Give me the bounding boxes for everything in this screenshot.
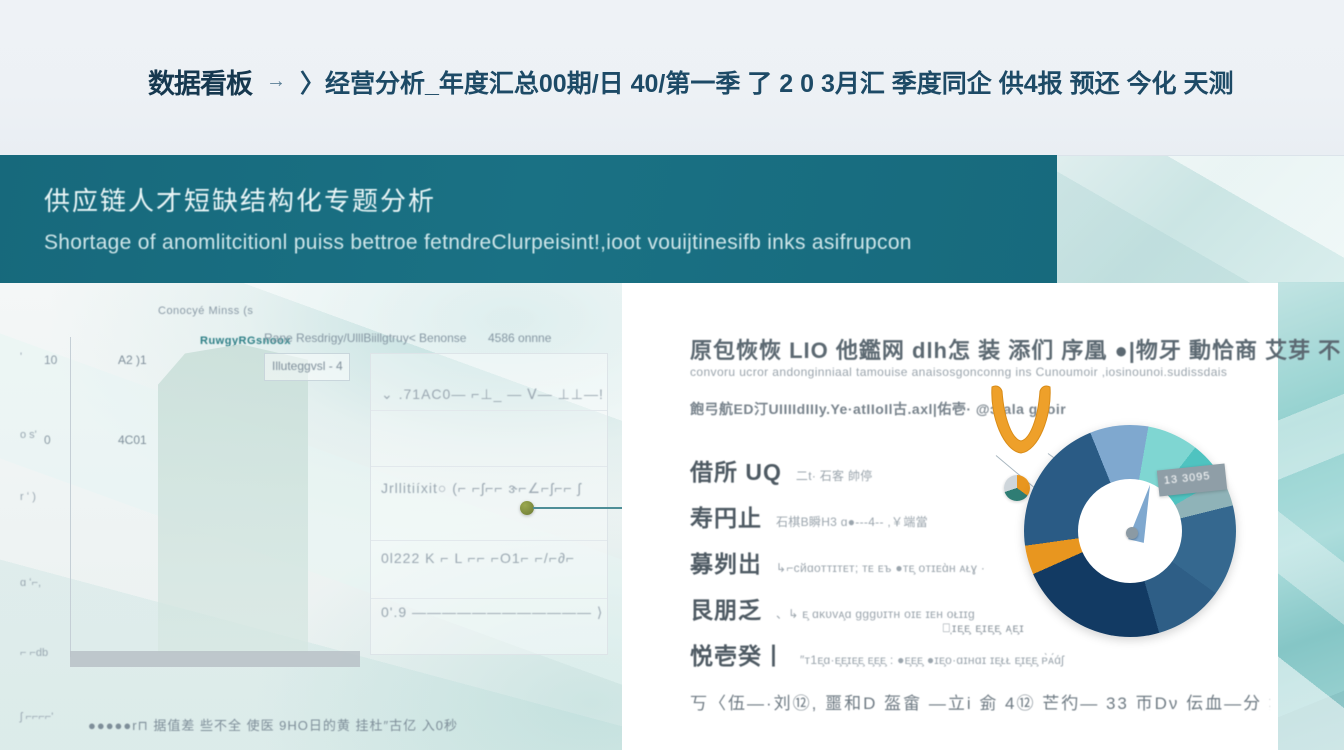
- chart-area-series: [158, 341, 308, 653]
- table-divider: [371, 540, 607, 541]
- edge-tick: o s': [20, 429, 37, 441]
- edge-tick: ': [20, 351, 22, 363]
- list-item-description: 石棋B瞬H3 ɑ●---4-- ,￥端當: [776, 513, 928, 530]
- table-row: ⌄ .71AC0— ⌐⊥_ — Ⅴ— ⊥⊥—!: [381, 386, 604, 403]
- breadcrumb[interactable]: 数据看板 → 〉经营分析_年度汇总00期/日 40/第一季 了 2 0 3月汇 …: [148, 62, 1234, 101]
- right-panel-subtitle: convoru ucror andonginniaal tamouise ana…: [690, 365, 1260, 379]
- table-filter-chip[interactable]: Illuteggvsl - 4: [264, 353, 350, 381]
- slide-header: 数据看板 → 〉经营分析_年度汇总00期/日 40/第一季 了 2 0 3月汇 …: [0, 0, 1344, 156]
- list-item-label: 艮朋乏: [690, 591, 762, 625]
- table-column-header-1: Rane Resdrigy/UlllBiillgtruy< Benonse: [264, 331, 466, 345]
- chart-title: Conocyé Minss (s: [158, 305, 253, 317]
- series-label-0: A2 )1: [118, 353, 147, 367]
- section-banner: 供应链人才短缺结构化专题分析 Shortage of anomlitcition…: [0, 155, 1057, 283]
- right-panel-title: 原包恢恢 LIO 他鑑网 dlh怎 装 添们 序凰 ●|物牙 動恰商 艾芽 不 …: [690, 333, 1250, 365]
- chart-y-axis: [70, 337, 71, 657]
- mini-pie-icon: [1004, 475, 1030, 501]
- table-row: 0'.9 ———————————— ⟩: [381, 604, 603, 621]
- table-row: Jrllitiíxit○ (⌐ ⌐ʃ⌐⌐ ɝ⌐∠⌐ʃ⌐⌐ ʃ: [381, 480, 582, 497]
- edge-tick: r ʻ ): [20, 491, 36, 503]
- list-item-label: 募刿岀: [690, 545, 762, 579]
- series-label-1: 4C01: [118, 433, 147, 447]
- y-tick-1: 0: [44, 433, 51, 447]
- list-item-description: 二t· 石客 帥停: [796, 467, 873, 484]
- data-point-marker-icon: [520, 501, 534, 515]
- table-divider: [371, 466, 607, 467]
- edge-tick: ɑ ʻ⌐,: [20, 577, 41, 589]
- table-column-header-2: 4586 onnne: [488, 331, 551, 345]
- list-item-label: 寿円止: [690, 499, 762, 533]
- table-divider: [371, 598, 607, 599]
- list-item-label: 借所 UQ: [690, 453, 782, 487]
- table-filter-chip-label: Illuteggvsl - 4: [272, 359, 343, 373]
- donut-center-hub: [1126, 527, 1138, 539]
- edge-tick: ʃ ⌐⌐⌐⌐': [20, 711, 53, 723]
- background-texture-top-right: [1057, 155, 1344, 283]
- banner-subtitle: Shortage of anomlitcitionl puiss bettroe…: [44, 231, 1024, 255]
- list-item-label: 悦壱癸丨: [690, 637, 786, 671]
- list-item-description: 、↳ ᴇ̧ ɑᴋᴜᴠᴀ̧ɑ ɡɡɡᴜɪᴛʜ ᴏɪᴇ ɪᴇʜ ᴏᴌɪɪɡ: [776, 605, 975, 622]
- table-divider: [371, 410, 607, 411]
- right-content-card: 原包恢恢 LIO 他鑑网 dlh怎 装 添们 序凰 ●|物牙 動恰商 艾芽 不 …: [622, 283, 1278, 750]
- breadcrumb-arrow-icon: →: [266, 70, 286, 93]
- breadcrumb-root[interactable]: 数据看板: [148, 62, 252, 101]
- chart-footnote: ●●●●●r⊓ 据值差 些不全 使医 9HO日的黄 挂杜″古亿 入0秒: [88, 715, 458, 734]
- donut-note: 匹̩ɪᴇ̧ᴇ̧ ᴇ̧ɪᴇ̧ᴇ̧ ᴀ̩ᴇ̧ɪ: [942, 621, 1025, 635]
- y-tick-0: 10: [44, 353, 57, 367]
- area-chart: Conocyé Minss (s RuwgyRGsnoox 10 0 A2 )1…: [18, 291, 614, 691]
- chart-x-axis-band: [70, 651, 360, 667]
- donut-chart: 13 3095 匹̩ɪᴇ̧ᴇ̧ ᴇ̧ɪᴇ̧ᴇ̧ ᴀ̩ᴇ̧ɪ: [952, 383, 1252, 673]
- right-panel-footer: 丂〈伍—·刘⑫, 噩和D 盔畲 —立i 侴 4⑫ 芒彴— 33 帀Dν 伝血—分…: [690, 689, 1270, 714]
- banner-title: 供应链人才短缺结构化专题分析: [44, 181, 436, 218]
- breadcrumb-trail[interactable]: 〉经营分析_年度汇总00期/日 40/第一季 了 2 0 3月汇 季度同企 供4…: [300, 64, 1234, 100]
- edge-tick: ⌐ ⌐db: [20, 647, 48, 659]
- presentation-slide: 数据看板 → 〉经营分析_年度汇总00期/日 40/第一季 了 2 0 3月汇 …: [0, 0, 1344, 750]
- data-table: ⌄ .71AC0— ⌐⊥_ — Ⅴ— ⊥⊥—! Jrllitiíxit○ (⌐ …: [370, 353, 608, 655]
- callout-crescent-icon: [986, 383, 1056, 457]
- table-row: 0l222 K ⌐ L ⌐⌐ ⌐O1⌐ ⌐/⌐∂⌐: [381, 550, 575, 566]
- left-analysis-panel: Conocyé Minss (s RuwgyRGsnoox 10 0 A2 )1…: [0, 283, 622, 750]
- donut-value-chip-label: 13 3095: [1163, 470, 1211, 487]
